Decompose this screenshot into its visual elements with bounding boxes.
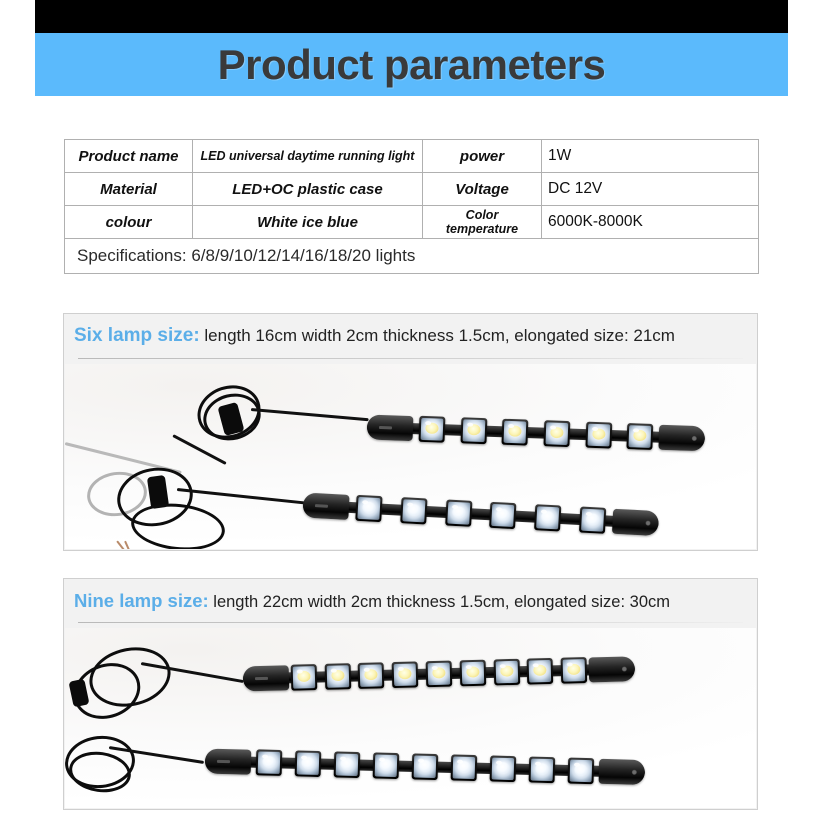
led-lens [335, 753, 358, 776]
led-module [333, 751, 360, 778]
led-lens [581, 509, 604, 532]
led-lens [587, 424, 610, 447]
cell-value-color-temperature: 6000K-8000K [542, 206, 759, 239]
six-lamp-caption: Six lamp size: length 16cm width 2cm thi… [74, 326, 747, 347]
six-lamp-caption-text: length 16cm width 2cm thickness 1.5cm, e… [200, 326, 675, 345]
cell-label-voltage: Voltage [423, 173, 542, 206]
table-row: colour White ice blue Color temperature … [65, 206, 759, 239]
strip-end-cap-right [589, 656, 636, 682]
led-module [372, 752, 399, 779]
led-module [543, 420, 570, 447]
led-module [418, 416, 445, 443]
led-lens [420, 418, 443, 441]
led-glint [330, 669, 336, 673]
led-glint [452, 505, 458, 509]
led-glint [541, 509, 547, 513]
led-module [400, 497, 427, 524]
cell-label-material: Material [65, 173, 193, 206]
led-lens [504, 421, 527, 444]
strip-end-cap-left [243, 665, 290, 691]
led-module [412, 753, 439, 780]
nine-lamp-caption-text: length 22cm width 2cm thickness 1.5cm, e… [209, 593, 670, 611]
led-module [502, 419, 529, 446]
led-module [529, 756, 556, 783]
cell-label-colour: colour [65, 206, 193, 239]
led-lens [414, 755, 437, 778]
led-module [460, 417, 487, 444]
led-module [585, 422, 612, 449]
page-title: Product parameters [35, 33, 788, 96]
led-lens [428, 663, 451, 686]
table-row-specifications: Specifications: 6/8/9/10/12/14/16/18/20 … [65, 239, 759, 274]
led-module [534, 504, 561, 531]
led-lens [358, 497, 381, 520]
led-module [426, 661, 453, 688]
section-six-lamp: Six lamp size: length 16cm width 2cm thi… [63, 313, 758, 551]
led-lens [360, 664, 383, 687]
led-module [255, 749, 282, 776]
led-module [568, 758, 595, 785]
led-lens [570, 760, 593, 783]
led-module [324, 663, 351, 690]
led-glint [585, 512, 591, 516]
led-module [490, 755, 517, 782]
led-module [489, 502, 516, 529]
led-module [459, 660, 486, 687]
led-lens [293, 666, 316, 689]
cell-value-power: 1W [542, 140, 759, 173]
led-module [392, 661, 419, 688]
led-lens [563, 659, 586, 682]
led-lens [491, 504, 514, 527]
cell-value-product-name: LED universal daytime running light [193, 140, 423, 173]
cell-label-power: power [423, 140, 542, 173]
led-module [291, 664, 318, 691]
strip-end-cap-right [599, 759, 646, 785]
strip-end-cap-left [302, 493, 349, 520]
led-glint [340, 757, 346, 761]
six-lamp-accent-label: Six lamp size: [74, 325, 200, 346]
led-lens [326, 665, 349, 688]
cell-label-product-name: Product name [65, 140, 193, 173]
led-lens [531, 759, 554, 782]
led-lens [529, 660, 552, 683]
led-lens [394, 663, 417, 686]
led-module [627, 423, 654, 450]
led-module [579, 506, 606, 533]
led-lens [492, 758, 515, 781]
led-module [493, 659, 520, 686]
led-lens [453, 756, 476, 779]
led-lens [375, 754, 398, 777]
cell-specifications: Specifications: 6/8/9/10/12/14/16/18/20 … [65, 239, 759, 274]
led-module [451, 754, 478, 781]
led-glint [550, 425, 556, 429]
led-module [527, 658, 554, 685]
led-lens [296, 752, 319, 775]
led-module [294, 750, 321, 777]
led-lens [462, 419, 485, 442]
led-lens [447, 502, 470, 525]
led-glint [425, 421, 431, 425]
cell-value-voltage: DC 12V [542, 173, 759, 206]
header-black-bar [35, 0, 788, 33]
strip-end-cap-right [612, 509, 659, 536]
led-lens [536, 506, 559, 529]
strip-end-cap-left [205, 749, 252, 775]
strip-end-cap-right [658, 425, 705, 452]
led-lens [402, 499, 425, 522]
caption-divider [78, 358, 743, 359]
cell-value-material: LED+OC plastic case [193, 173, 423, 206]
led-glint [301, 756, 307, 760]
specification-table: Product name LED universal daytime runni… [64, 139, 759, 274]
strip-end-cap-left [367, 415, 414, 442]
led-module [561, 657, 588, 684]
nine-lamp-photo [65, 628, 756, 808]
led-glint [379, 758, 385, 762]
led-module [358, 662, 385, 689]
led-module [356, 495, 383, 522]
led-lens [495, 661, 518, 684]
table-row: Material LED+OC plastic case Voltage DC … [65, 173, 759, 206]
led-glint [262, 754, 268, 758]
led-lens [545, 422, 568, 445]
led-lens [461, 662, 484, 685]
table-row: Product name LED universal daytime runni… [65, 140, 759, 173]
cell-value-colour: White ice blue [193, 206, 423, 239]
nine-lamp-caption: Nine lamp size: length 22cm width 2cm th… [74, 591, 747, 611]
led-glint [418, 759, 424, 763]
led-glint [297, 669, 303, 673]
strip-bar [367, 422, 705, 445]
led-lens [257, 751, 280, 774]
caption-divider [78, 622, 743, 623]
led-glint [407, 502, 413, 506]
nine-lamp-accent-label: Nine lamp size: [74, 590, 209, 611]
led-glint [467, 422, 473, 426]
led-glint [592, 427, 598, 431]
section-nine-lamp: Nine lamp size: length 22cm width 2cm th… [63, 578, 758, 810]
led-glint [499, 664, 505, 668]
led-lens [629, 425, 652, 448]
cell-label-color-temperature: Color temperature [423, 206, 542, 239]
six-lamp-photo [65, 364, 756, 549]
led-glint [465, 665, 471, 669]
led-module [445, 499, 472, 526]
product-parameters-page: Product parameters Product name LED univ… [0, 0, 822, 822]
